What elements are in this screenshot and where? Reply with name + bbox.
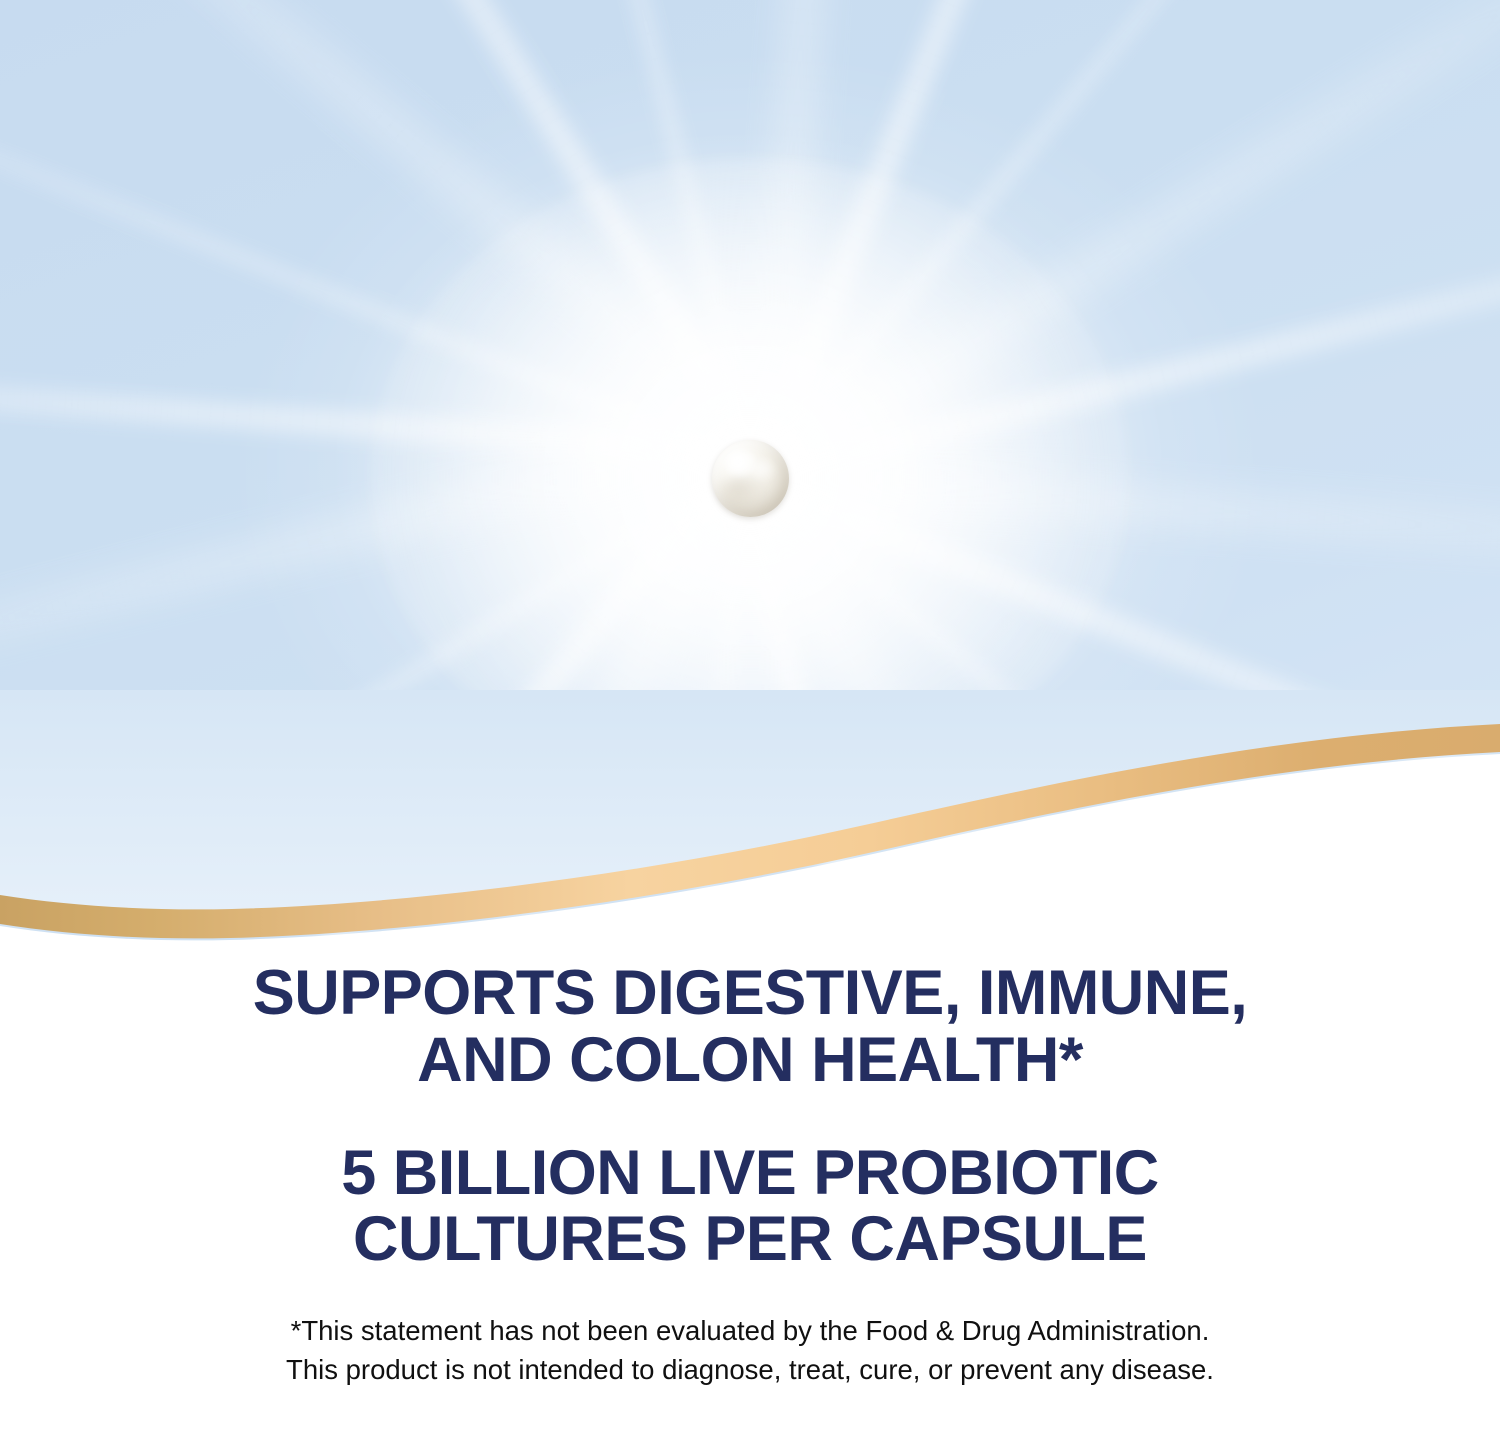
headline: SUPPORTS DIGESTIVE, IMMUNE, AND COLON HE… <box>0 960 1500 1094</box>
disclaimer-line-2: This product is not intended to diagnose… <box>60 1350 1440 1389</box>
fda-disclaimer: *This statement has not been evaluated b… <box>0 1311 1500 1389</box>
pearl-shadow <box>721 475 764 510</box>
disclaimer-line-1: *This statement has not been evaluated b… <box>60 1311 1440 1350</box>
pearl-highlight-primary <box>725 450 756 476</box>
headline-line-1: SUPPORTS DIGESTIVE, IMMUNE, <box>70 960 1430 1027</box>
headline-line-2: AND COLON HEALTH* <box>70 1027 1430 1094</box>
probiotic-pearl-capsule <box>712 440 789 517</box>
pearl-highlight-secondary <box>752 460 775 480</box>
product-info-panel: SUPPORTS DIGESTIVE, IMMUNE, AND COLON HE… <box>0 0 1500 1451</box>
subhead-line-1: 5 BILLION LIVE PROBIOTIC <box>70 1140 1430 1207</box>
copy-block: SUPPORTS DIGESTIVE, IMMUNE, AND COLON HE… <box>0 960 1500 1389</box>
gold-wave-divider <box>0 690 1500 970</box>
subhead: 5 BILLION LIVE PROBIOTIC CULTURES PER CA… <box>0 1140 1500 1274</box>
subhead-line-2: CULTURES PER CAPSULE <box>70 1206 1430 1273</box>
